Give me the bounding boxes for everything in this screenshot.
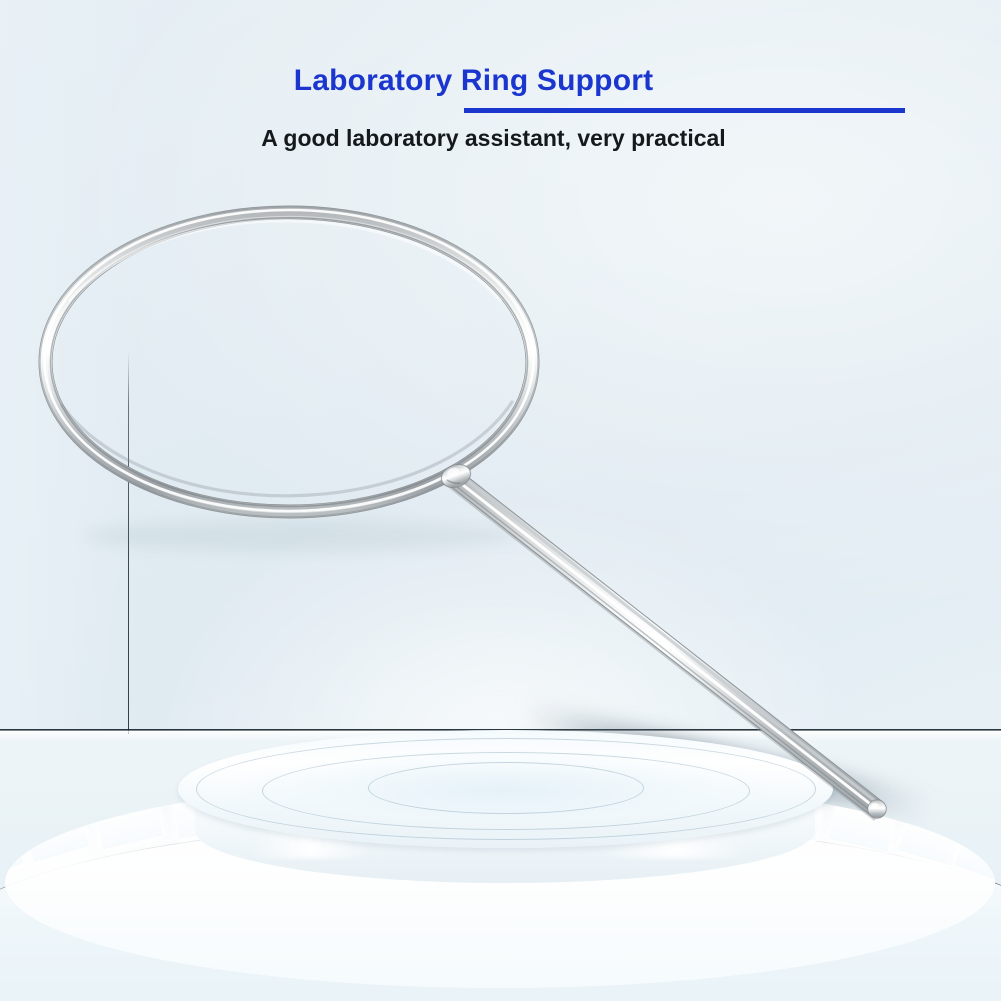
rod-specular-highlight: [454, 478, 878, 810]
product-image: Laboratory Ring Support A good laborator…: [0, 0, 1001, 1001]
rod-lower-edge: [450, 487, 874, 819]
rod-upper-edge: [455, 471, 879, 804]
rod-end-cap-highlight: [871, 803, 879, 809]
product-text-block: Laboratory Ring Support A good laborator…: [0, 64, 1001, 152]
ring-contact-shadow: [85, 520, 515, 552]
page-title: Laboratory Ring Support: [0, 64, 1001, 99]
page-subtitle: A good laboratory assistant, very practi…: [0, 125, 1001, 153]
rod-groove-line: [452, 483, 876, 815]
rod-end-cap: [868, 800, 886, 818]
ring-top-gloss: [70, 221, 500, 300]
title-underline: [464, 108, 905, 113]
support-rod: [450, 471, 886, 819]
